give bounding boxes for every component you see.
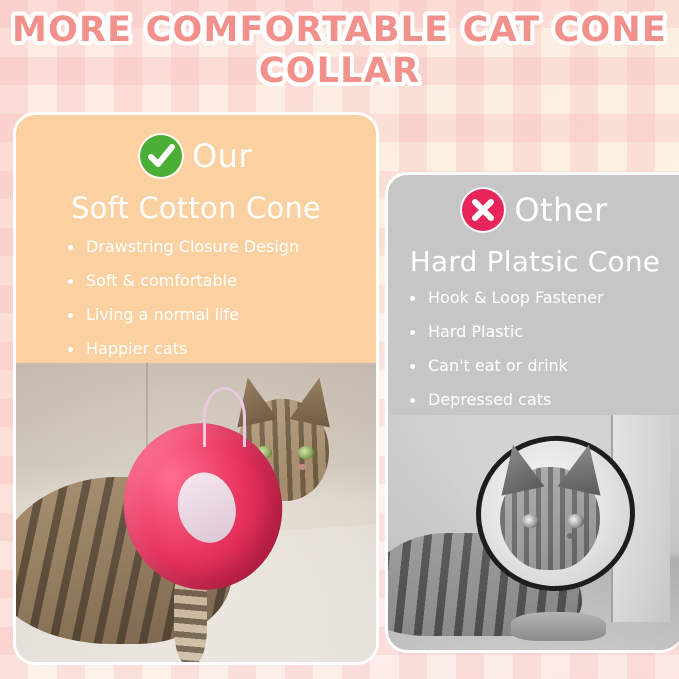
other-product-photo xyxy=(388,415,679,650)
list-item: Living a normal life xyxy=(68,307,376,323)
list-item: Depressed cats xyxy=(410,392,679,408)
cat-head xyxy=(500,467,600,570)
comparison-infographic: MORE COMFORTABLE CAT CONE COLLAR Our Sof… xyxy=(0,0,679,679)
cat-eye-left xyxy=(522,514,539,527)
our-brand-label: Our xyxy=(192,140,252,172)
our-brand-row: Our xyxy=(16,135,376,177)
check-circle-icon xyxy=(140,135,182,177)
list-item: Soft & comfortable xyxy=(68,273,376,289)
cat-eye-right xyxy=(298,446,314,459)
list-item: Hook & Loop Fastener xyxy=(410,290,679,306)
our-feature-list: Drawstring Closure Design Soft & comfort… xyxy=(16,239,376,357)
cat-paws xyxy=(511,612,605,640)
collar-drawstring-loop xyxy=(203,387,246,447)
page-title: MORE COMFORTABLE CAT CONE COLLAR xyxy=(0,10,679,92)
title-line-2: COLLAR xyxy=(0,51,679,92)
other-brand-label: Other xyxy=(514,194,607,226)
list-item: Drawstring Closure Design xyxy=(68,239,376,255)
other-cone-title: Hard Platsic Cone xyxy=(388,245,679,278)
other-feature-list: Hook & Loop Fastener Hard Plastic Can't … xyxy=(388,290,679,408)
cat-nose xyxy=(567,533,576,539)
our-cone-title: Soft Cotton Cone xyxy=(16,191,376,225)
cat-eye-right xyxy=(567,514,584,527)
x-circle-icon xyxy=(462,189,504,231)
cat-nose xyxy=(298,464,306,470)
other-brand-row: Other xyxy=(388,189,679,231)
other-product-card: Other Hard Platsic Cone Hook & Loop Fast… xyxy=(385,172,679,653)
list-item: Hard Plastic xyxy=(410,324,679,340)
title-line-1: MORE COMFORTABLE CAT CONE xyxy=(0,10,679,51)
list-item: Can't eat or drink xyxy=(410,358,679,374)
our-product-card: Our Soft Cotton Cone Drawstring Closure … xyxy=(13,112,379,665)
our-product-photo xyxy=(16,363,376,662)
list-item: Happier cats xyxy=(68,341,376,357)
